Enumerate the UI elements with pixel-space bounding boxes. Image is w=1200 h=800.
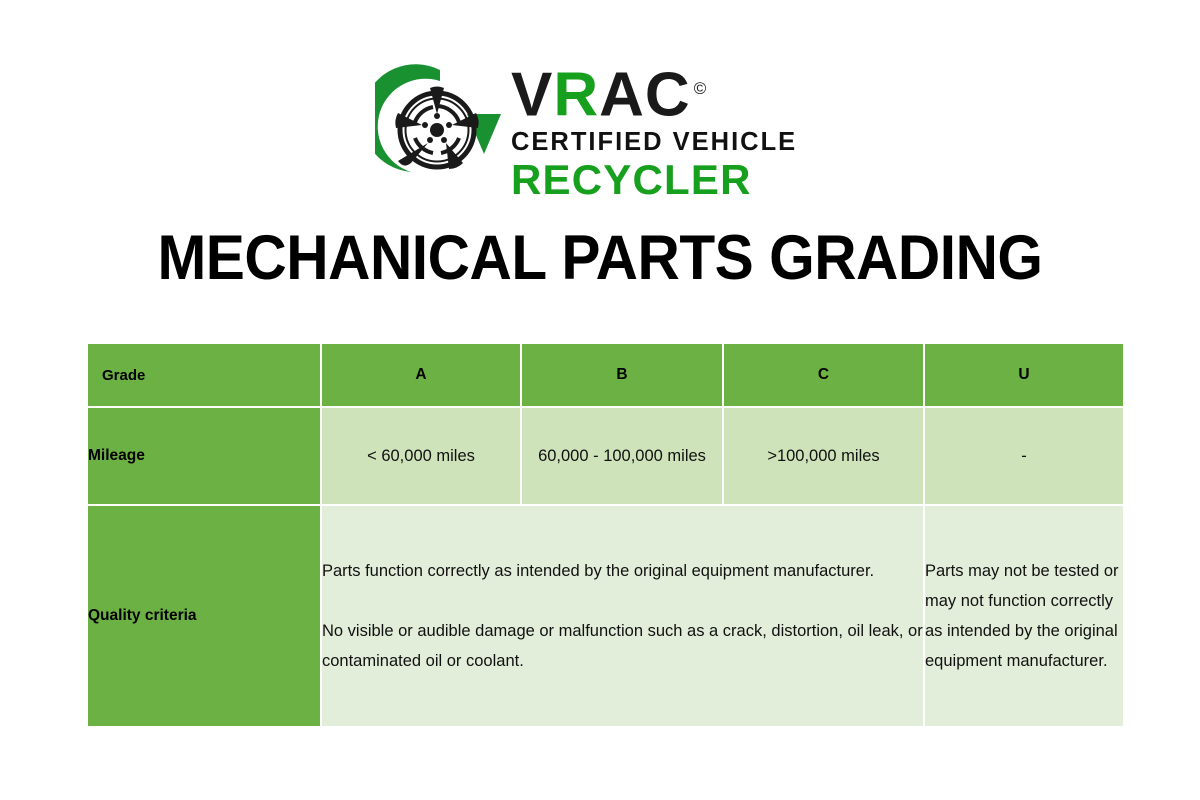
table-row-mileage: Mileage < 60,000 miles 60,000 - 100,000 …	[88, 408, 1123, 504]
mileage-value-b: 60,000 - 100,000 miles	[522, 408, 722, 504]
logo-tagline: CERTIFIED VEHICLE	[511, 127, 797, 157]
header-cell-grade-c: C	[724, 344, 923, 406]
header-cell-grade: Grade	[88, 344, 320, 406]
mileage-value-u: -	[925, 408, 1123, 504]
quality-criteria-u: Parts may not be tested or may not funct…	[925, 506, 1123, 726]
quality-criteria-paragraph-1: Parts function correctly as intended by …	[322, 556, 923, 586]
grading-chart-page: VRAC© CERTIFIED VEHICLE RECYCLER MECHANI…	[0, 0, 1200, 800]
logo-wordmark-group: VRAC© CERTIFIED VEHICLE RECYCLER	[511, 58, 797, 202]
row-label-mileage: Mileage	[88, 408, 320, 504]
table-header-row: Grade A B C U	[88, 344, 1123, 406]
logo-letters-ac: AC	[599, 61, 691, 130]
logo-brand-name: VRAC©	[511, 60, 797, 125]
row-label-quality-criteria: Quality criteria	[88, 506, 320, 726]
mileage-value-c: >100,000 miles	[724, 408, 923, 504]
recycling-wheel-logo-icon	[375, 62, 505, 192]
quality-criteria-paragraph-2: No visible or audible damage or malfunct…	[322, 616, 923, 676]
mechanical-parts-grading-table: Grade A B C U Mileage < 60,000 miles 60,…	[86, 342, 1125, 728]
header-cell-grade-b: B	[522, 344, 722, 406]
page-title: MECHANICAL PARTS GRADING	[42, 222, 1158, 294]
header-cell-grade-u: U	[925, 344, 1123, 406]
quality-criteria-abc: Parts function correctly as intended by …	[322, 506, 923, 726]
mileage-value-a: < 60,000 miles	[322, 408, 520, 504]
logo-wordmark-recycler: RECYCLER	[511, 158, 797, 202]
table-row-quality-criteria: Quality criteria Parts function correctl…	[88, 506, 1123, 726]
logo-letter-v: V	[511, 61, 553, 130]
header-cell-grade-a: A	[322, 344, 520, 406]
copyright-icon: ©	[694, 79, 707, 98]
logo-letter-r: R	[553, 61, 599, 130]
vrac-logo: VRAC© CERTIFIED VEHICLE RECYCLER	[375, 58, 845, 198]
